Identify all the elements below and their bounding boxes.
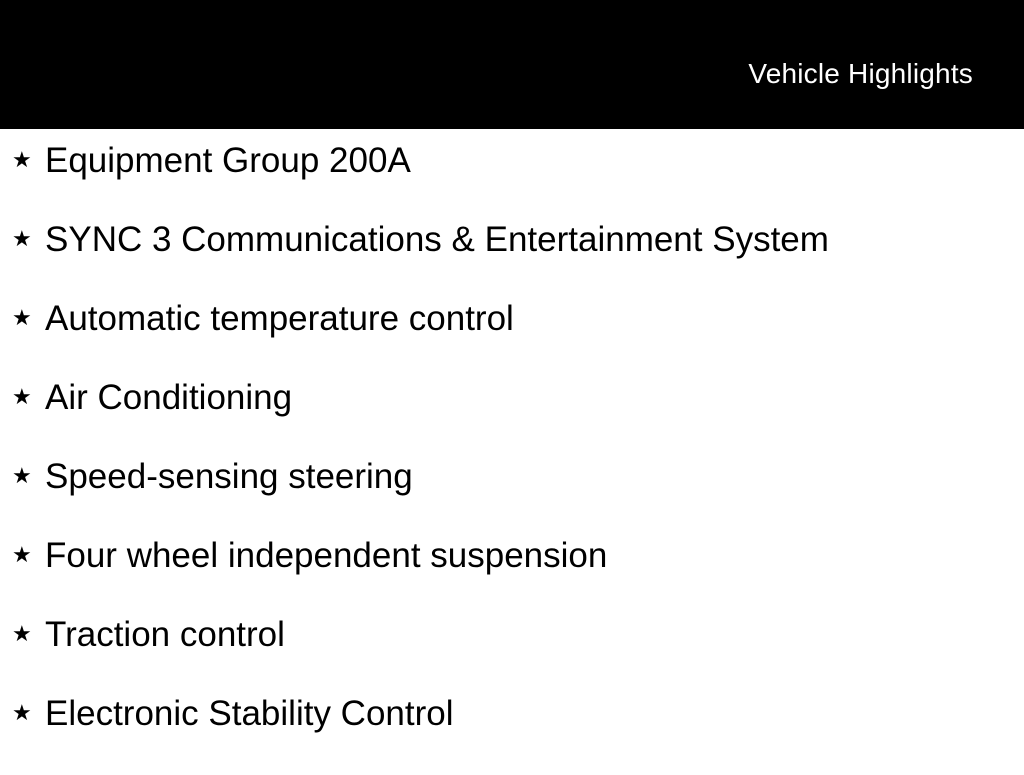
star-icon: ★ — [12, 308, 45, 330]
vehicle-highlights-page: Vehicle Highlights ★ Equipment Group 200… — [0, 0, 1024, 768]
star-icon: ★ — [12, 229, 45, 251]
star-icon: ★ — [12, 387, 45, 409]
list-item: ★ Air Conditioning — [0, 380, 1024, 459]
list-item: ★ Four wheel independent suspension — [0, 538, 1024, 617]
list-item-label: Electronic Stability Control — [45, 696, 454, 731]
list-item-label: Four wheel independent suspension — [45, 538, 607, 573]
list-item: ★ SYNC 3 Communications & Entertainment … — [0, 222, 1024, 301]
star-icon: ★ — [12, 703, 45, 725]
list-item-label: SYNC 3 Communications & Entertainment Sy… — [45, 222, 829, 257]
list-item: ★ Speed-sensing steering — [0, 459, 1024, 538]
star-icon: ★ — [12, 466, 45, 488]
list-item: ★ Electronic Stability Control — [0, 696, 1024, 775]
list-item-label: Automatic temperature control — [45, 301, 514, 336]
list-item-label: Traction control — [45, 617, 285, 652]
list-item: ★ Equipment Group 200A — [0, 129, 1024, 222]
vehicle-highlights-list: ★ Equipment Group 200A ★ SYNC 3 Communic… — [0, 129, 1024, 775]
list-item: ★ Traction control — [0, 617, 1024, 696]
list-item-label: Air Conditioning — [45, 380, 292, 415]
star-icon: ★ — [12, 545, 45, 567]
list-item: ★ Automatic temperature control — [0, 301, 1024, 380]
list-item-label: Speed-sensing steering — [45, 459, 413, 494]
header-bar: Vehicle Highlights — [0, 0, 1024, 129]
star-icon: ★ — [12, 150, 45, 172]
list-item-label: Equipment Group 200A — [45, 143, 411, 178]
page-title: Vehicle Highlights — [748, 60, 973, 88]
star-icon: ★ — [12, 624, 45, 646]
